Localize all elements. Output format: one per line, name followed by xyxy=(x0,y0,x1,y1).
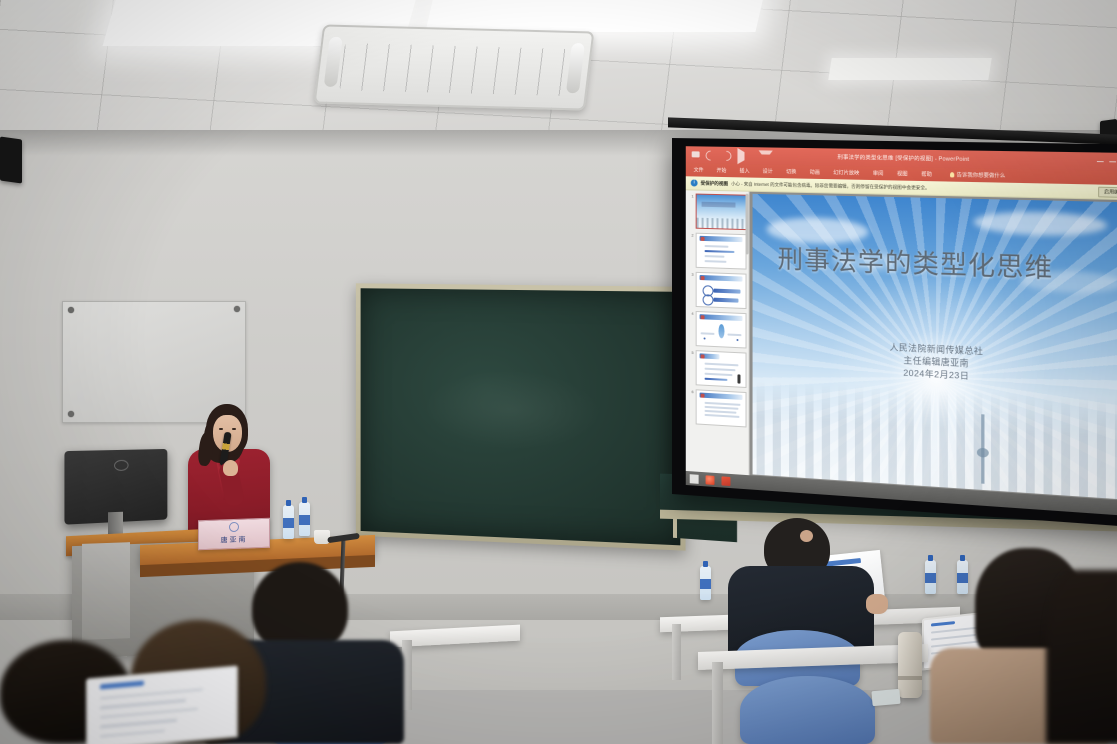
thumb-line xyxy=(705,363,739,367)
laptop-ui-header xyxy=(100,681,144,690)
desk-leg xyxy=(672,624,681,680)
slide-thumbnail-image[interactable] xyxy=(696,194,747,231)
slide-thumbnail-image[interactable] xyxy=(696,350,747,388)
thumb-line xyxy=(705,260,726,263)
institution-logo-icon xyxy=(229,522,239,532)
thumb-skyline xyxy=(697,218,746,229)
smartphone[interactable] xyxy=(871,689,900,706)
slide-number: 1 xyxy=(688,193,694,228)
lecture-hall-photo: 刑事法学的类型化思维 [受保护的视图] - PowerPoint 文件 开始 插… xyxy=(0,0,1117,744)
slide-thumbnail[interactable]: 3 xyxy=(688,272,747,310)
powerpoint-icon[interactable] xyxy=(721,476,730,486)
ribbon-tab-view[interactable]: 视图 xyxy=(897,170,908,177)
window-buttons[interactable] xyxy=(1097,161,1117,163)
protected-view-label: 受保护的视图 xyxy=(701,180,728,187)
water-bottle xyxy=(283,505,294,539)
restore-icon[interactable] xyxy=(1109,161,1116,163)
thumb-line xyxy=(705,250,735,253)
slide-thumbnail[interactable]: 2 xyxy=(688,232,747,269)
ribbon-tab-file[interactable]: 文件 xyxy=(694,166,704,173)
slide-number: 3 xyxy=(688,272,694,307)
thumb-dot xyxy=(736,339,738,341)
chair xyxy=(740,676,875,744)
laptop-ui-row xyxy=(100,729,165,737)
ceiling-light-panel xyxy=(425,0,764,32)
audience-hand xyxy=(866,594,888,614)
presenter-hand xyxy=(223,460,238,476)
water-bottle xyxy=(299,502,310,536)
ribbon-tab-review[interactable]: 审阅 xyxy=(873,170,883,177)
audience-head xyxy=(1046,570,1117,744)
projection-screen: 刑事法学的类型化思维 [受保护的视图] - PowerPoint 文件 开始 插… xyxy=(672,138,1117,528)
thumb-line xyxy=(705,406,739,409)
enable-editing-button[interactable]: 启用编辑 xyxy=(1099,186,1117,197)
audience-ear xyxy=(800,530,813,542)
laptop-screen xyxy=(88,668,236,744)
speaker-icon xyxy=(0,136,22,183)
chalk-smudge xyxy=(423,368,601,453)
slide-thumbnail-image[interactable] xyxy=(696,311,747,349)
ribbon-tab-design[interactable]: 设计 xyxy=(763,168,773,175)
pin-icon xyxy=(68,307,74,313)
slide-thumbnail-image[interactable] xyxy=(696,233,747,270)
thumb-header-bar xyxy=(700,314,743,321)
slide-thumbnail-panel[interactable]: 1 2 xyxy=(686,190,750,476)
thumb-line xyxy=(714,289,741,294)
chevron-down-icon[interactable] xyxy=(759,150,773,162)
water-bottle xyxy=(700,566,711,600)
thumb-line xyxy=(701,332,715,335)
ribbon-tab-insert[interactable]: 插入 xyxy=(740,167,750,174)
lightbulb-icon xyxy=(950,172,954,177)
slide-number: 4 xyxy=(688,311,694,346)
presenter-eye xyxy=(232,428,236,430)
slide-thumbnail[interactable]: 5 xyxy=(688,350,747,388)
thumb-line xyxy=(705,245,728,248)
ribbon-tab-slideshow[interactable]: 幻灯片放映 xyxy=(833,169,859,177)
water-bottle xyxy=(925,560,936,594)
blackboard xyxy=(356,283,686,550)
thumb-line xyxy=(705,410,737,413)
laptop-ui-row xyxy=(931,634,977,641)
protected-view-message: 小心 - 来自 Internet 的文件可能包含病毒。除非您需要编辑，否则停留在… xyxy=(731,181,930,191)
air-conditioner-icon xyxy=(314,24,595,110)
blackboard-surface xyxy=(361,288,681,545)
powerpoint-body: 1 2 xyxy=(686,190,1117,502)
ribbon-tab-home[interactable]: 开始 xyxy=(717,167,727,174)
presenter-eye xyxy=(219,428,223,430)
slide-thumbnail-image[interactable] xyxy=(696,389,747,427)
windows-start-icon[interactable] xyxy=(690,474,699,484)
start-slideshow-icon[interactable] xyxy=(737,147,752,163)
ceiling-light-panel xyxy=(828,58,991,80)
slide-number: 6 xyxy=(688,389,694,424)
current-slide[interactable]: 刑事法学的类型化思维 人民法院新闻传媒总社 主任编辑唐亚南 2024年2月23日 xyxy=(753,194,1117,500)
laptop-ui-row xyxy=(100,708,198,719)
slide-thumbnail[interactable]: 1 xyxy=(688,193,747,230)
desk-leg xyxy=(712,662,723,744)
thumb-line xyxy=(728,334,742,337)
thumb-line xyxy=(714,298,738,303)
ribbon-tab-animations[interactable]: 动画 xyxy=(810,169,820,176)
thumb-line xyxy=(705,368,736,372)
thumb-figure-icon xyxy=(737,374,740,383)
thumb-line xyxy=(705,402,741,406)
powerpoint-window[interactable]: 刑事法学的类型化思维 [受保护的视图] - PowerPoint 文件 开始 插… xyxy=(686,146,1117,516)
laptop-ui-row xyxy=(100,719,177,728)
quick-access-toolbar[interactable] xyxy=(692,147,773,164)
thermos xyxy=(898,632,922,698)
slide-number: 2 xyxy=(688,232,694,267)
thumb-header-bar xyxy=(700,236,743,242)
nameplate: 唐亚南 xyxy=(198,518,270,551)
slide-editing-pane[interactable]: 刑事法学的类型化思维 人民法院新闻传媒总社 主任编辑唐亚南 2024年2月23日 xyxy=(750,192,1117,503)
thumb-shape xyxy=(703,294,714,305)
slide-thumbnail[interactable]: 6 xyxy=(688,389,747,428)
tell-me-placeholder: 告诉我你想要做什么 xyxy=(957,171,1006,179)
minimize-icon[interactable] xyxy=(1097,161,1104,163)
ribbon-tab-transitions[interactable]: 切换 xyxy=(786,168,796,175)
water-bottle xyxy=(957,560,968,594)
undo-icon[interactable] xyxy=(704,148,718,162)
thumb-line xyxy=(705,255,724,258)
slide-thumbnail[interactable]: 4 xyxy=(688,311,747,349)
thumb-header-bar xyxy=(700,275,743,282)
thumb-dot xyxy=(704,337,706,339)
thumb-line xyxy=(705,373,733,376)
thumb-oval-shape xyxy=(718,324,724,339)
pin-icon xyxy=(234,306,240,312)
tell-me-search[interactable]: 告诉我你想要做什么 xyxy=(950,171,1005,179)
ac-vane xyxy=(566,43,585,93)
tv-tower-graphic xyxy=(982,414,985,484)
slide-thumbnail-image[interactable] xyxy=(696,272,747,309)
ac-grille xyxy=(339,43,568,96)
ribbon-tab-help[interactable]: 帮助 xyxy=(921,171,932,178)
laptop-ui-header xyxy=(931,621,956,627)
thumb-line xyxy=(705,378,727,381)
thumbnail-scrollbar[interactable] xyxy=(746,194,749,255)
nameplate-text: 唐亚南 xyxy=(221,535,248,546)
redo-icon[interactable] xyxy=(719,148,733,162)
thumb-line xyxy=(705,414,740,418)
laptop-ui-row xyxy=(100,688,204,700)
app-icon-orange[interactable] xyxy=(706,475,715,485)
desktop-pc-tower xyxy=(82,542,130,640)
thumb-header-bar xyxy=(700,393,743,400)
laptop-ui-row xyxy=(100,699,186,709)
info-icon: i xyxy=(691,179,698,186)
slide-number: 5 xyxy=(688,350,694,385)
laptop[interactable] xyxy=(86,665,238,744)
thumb-title-band xyxy=(701,202,735,207)
pin-icon xyxy=(68,411,74,417)
thumb-header-bar xyxy=(700,353,719,359)
save-icon[interactable] xyxy=(692,151,700,159)
